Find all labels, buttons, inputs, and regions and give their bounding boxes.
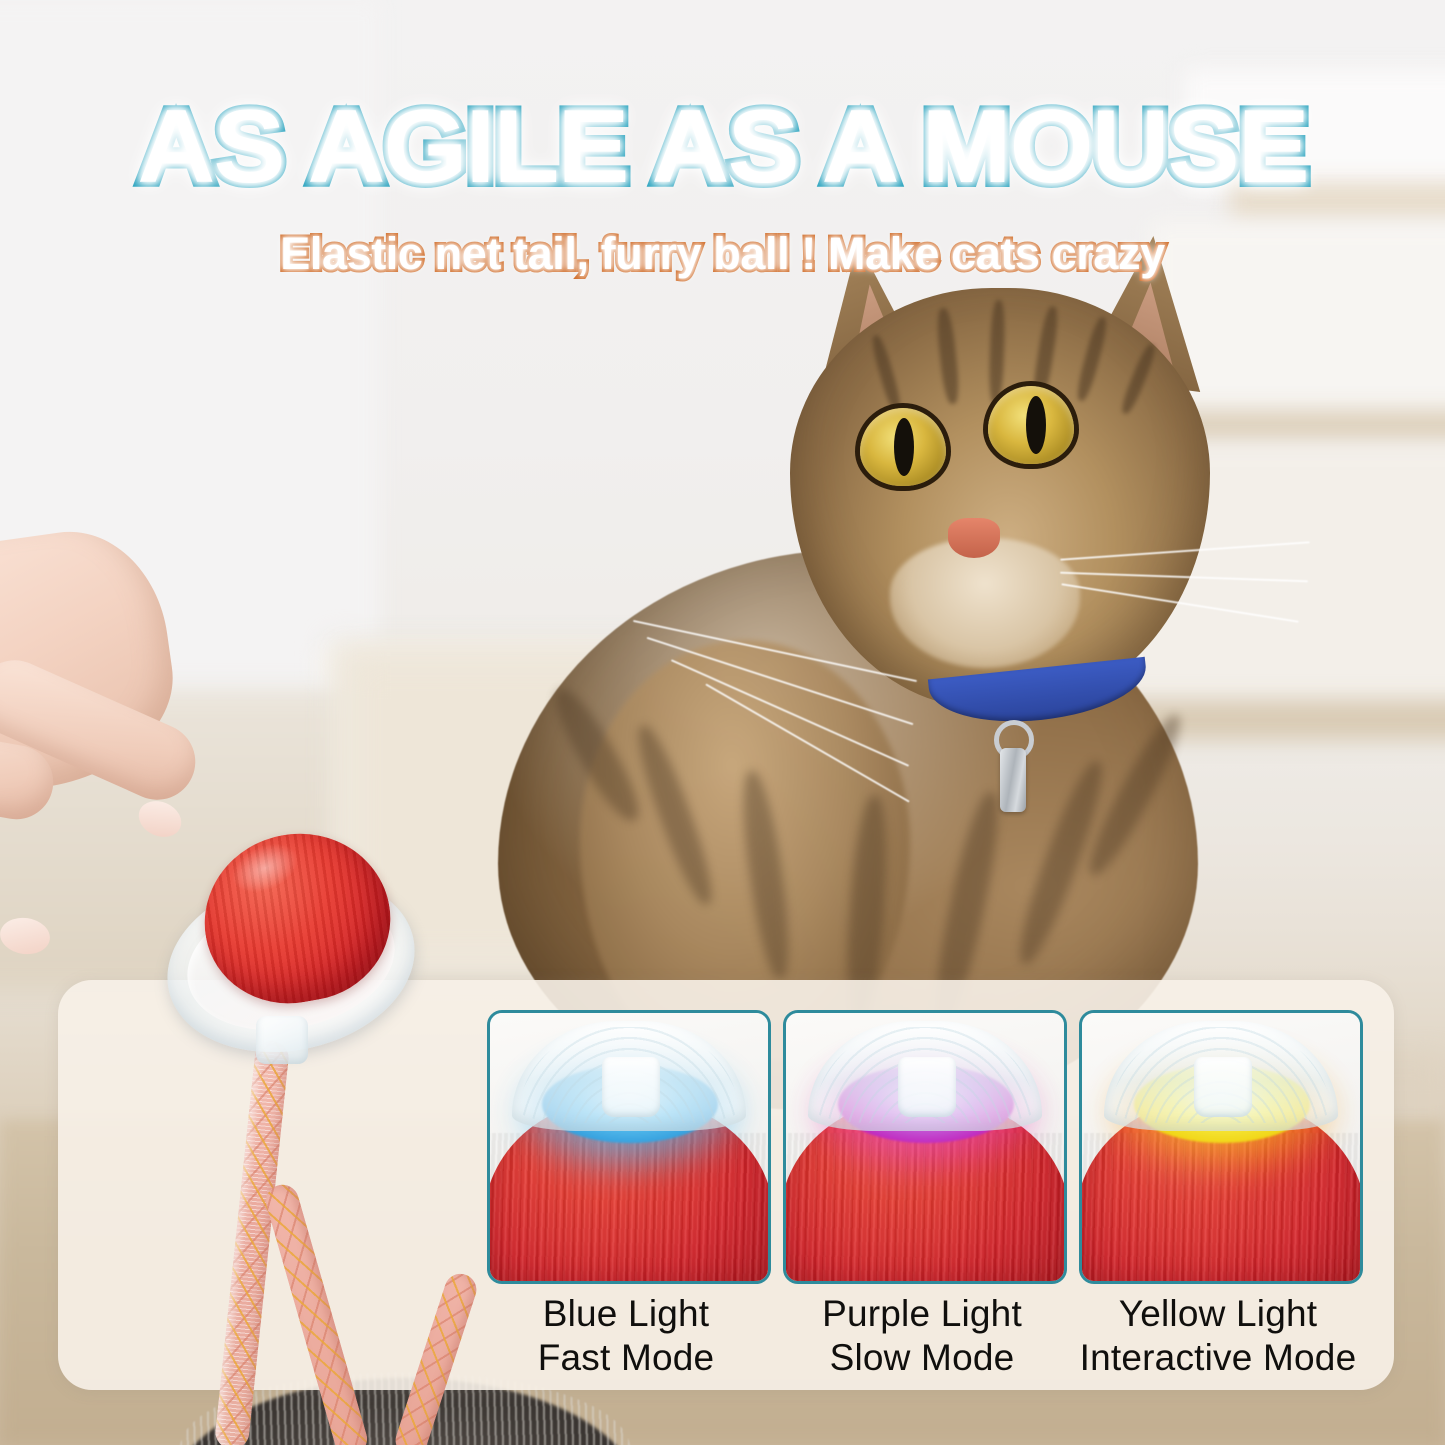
mode-card-blue[interactable] — [487, 1010, 771, 1284]
subtitle-text: Elastic net tail, furry ball ! Make cats… — [280, 228, 1164, 279]
led-module — [602, 1057, 660, 1117]
cat-collar-tag — [1000, 748, 1026, 812]
tabby-cat — [460, 250, 1240, 1070]
cat-pupil-right — [1026, 396, 1046, 454]
mode-light-label: Purple Light — [783, 1292, 1061, 1336]
light-mode-cards: Blue Light Fast Mode Purple Light Slow M… — [487, 1010, 1367, 1380]
mode-light-label: Blue Light — [487, 1292, 765, 1336]
cat-nose — [948, 518, 1000, 558]
mode-label-blue: Blue Light Fast Mode — [487, 1292, 765, 1379]
tail-connector — [256, 1016, 308, 1064]
page-headline: AS AGILE AS A MOUSE — [0, 95, 1445, 199]
led-module — [898, 1057, 956, 1117]
led-module — [1194, 1057, 1252, 1117]
mode-label-purple: Purple Light Slow Mode — [783, 1292, 1061, 1379]
mode-card-yellow[interactable] — [1079, 1010, 1363, 1284]
mode-mode-label: Fast Mode — [487, 1336, 765, 1380]
mode-label-yellow: Yellow Light Interactive Mode — [1053, 1292, 1383, 1379]
mode-light-label: Yellow Light — [1053, 1292, 1383, 1336]
mode-card-purple[interactable] — [783, 1010, 1067, 1284]
pointing-hand — [0, 540, 270, 880]
headline-text: AS AGILE AS A MOUSE — [137, 89, 1307, 205]
cat-pupil-left — [894, 418, 914, 476]
mode-mode-label: Slow Mode — [783, 1336, 1061, 1380]
mode-mode-label: Interactive Mode — [1053, 1336, 1383, 1380]
page-subtitle: Elastic net tail, furry ball ! Make cats… — [0, 231, 1445, 276]
rolling-ball-product — [160, 830, 430, 1090]
product-marketing-banner: Blue Light Fast Mode Purple Light Slow M… — [0, 0, 1445, 1445]
